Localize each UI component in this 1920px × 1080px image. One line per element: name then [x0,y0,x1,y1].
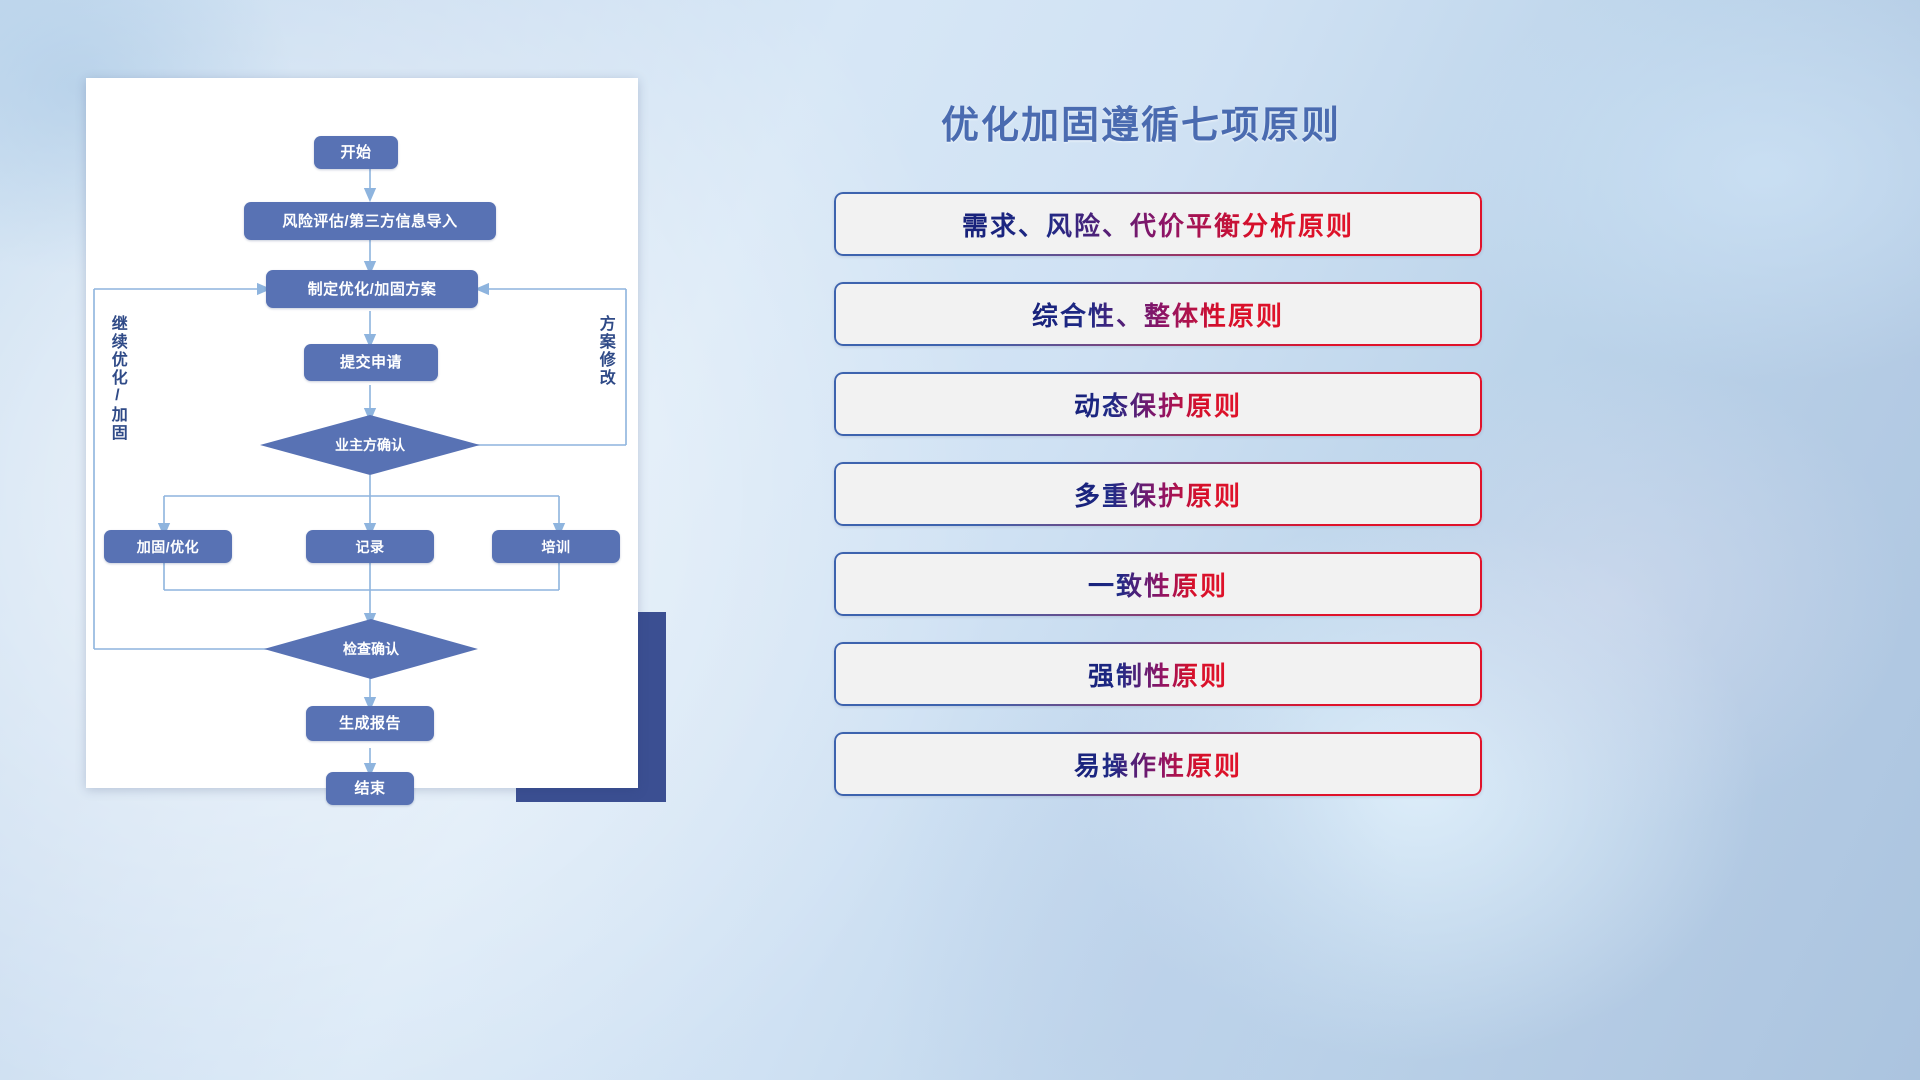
flow-node-report[interactable]: 生成报告 [306,706,434,741]
flowchart-diagram: 开始 风险评估/第三方信息导入 制定优化/加固方案 提交申请 业主方确认 加固/… [86,78,638,788]
flow-node-risk-assessment[interactable]: 风险评估/第三方信息导入 [244,202,496,240]
flow-node-reinforce[interactable]: 加固/优化 [104,530,232,563]
principle-item-7-label: 易操作性原则 [1074,746,1242,783]
flow-node-start-label: 开始 [340,145,371,160]
principle-item-5-label: 一致性原则 [1088,566,1228,603]
principle-item-3[interactable]: 动态保护原则 [834,372,1482,436]
principle-item-2-label: 综合性、整体性原则 [1032,296,1284,333]
principles-list: 需求、风险、代价平衡分析原则 综合性、整体性原则 动态保护原则 多重保护原则 一… [834,192,1482,822]
flow-edge-label-plan-revision: 方案修改 [596,315,613,387]
flow-node-record-label: 记录 [356,540,385,554]
flow-node-end-label: 结束 [354,781,385,796]
flow-node-plan[interactable]: 制定优化/加固方案 [266,270,478,308]
flow-node-training-label: 培训 [542,540,571,554]
principle-item-6-label: 强制性原则 [1088,656,1228,693]
flow-node-submit-label: 提交申请 [340,355,402,370]
flow-node-report-label: 生成报告 [339,716,401,731]
principle-item-4-label: 多重保护原则 [1074,476,1242,513]
flow-node-check-confirm-label: 检查确认 [343,639,399,659]
principle-item-3-label: 动态保护原则 [1074,386,1242,423]
flow-node-end[interactable]: 结束 [326,772,414,805]
principle-item-7[interactable]: 易操作性原则 [834,732,1482,796]
principle-item-1[interactable]: 需求、风险、代价平衡分析原则 [834,192,1482,256]
flow-node-reinforce-label: 加固/优化 [137,540,199,554]
principle-item-2[interactable]: 综合性、整体性原则 [834,282,1482,346]
flow-node-submit[interactable]: 提交申请 [304,344,438,381]
flow-node-training[interactable]: 培训 [492,530,620,563]
flow-node-plan-label: 制定优化/加固方案 [308,282,437,297]
principles-panel-title: 优化加固遵循七项原则 [941,94,1341,149]
principle-item-4[interactable]: 多重保护原则 [834,462,1482,526]
principle-item-6[interactable]: 强制性原则 [834,642,1482,706]
principle-item-5[interactable]: 一致性原则 [834,552,1482,616]
flow-node-start[interactable]: 开始 [314,136,398,169]
flowchart-card: 开始 风险评估/第三方信息导入 制定优化/加固方案 提交申请 业主方确认 加固/… [86,78,638,788]
flow-node-record[interactable]: 记录 [306,530,434,563]
flow-node-owner-confirm-label: 业主方确认 [335,435,405,455]
principles-panel: 优化加固遵循七项原则 需求、风险、代价平衡分析原则 综合性、整体性原则 动态保护… [826,72,1486,1032]
flow-edge-label-continue-optimize: 继续优化/加固 [108,315,125,442]
flow-node-risk-assessment-label: 风险评估/第三方信息导入 [282,214,457,229]
principle-item-1-label: 需求、风险、代价平衡分析原则 [962,206,1354,243]
